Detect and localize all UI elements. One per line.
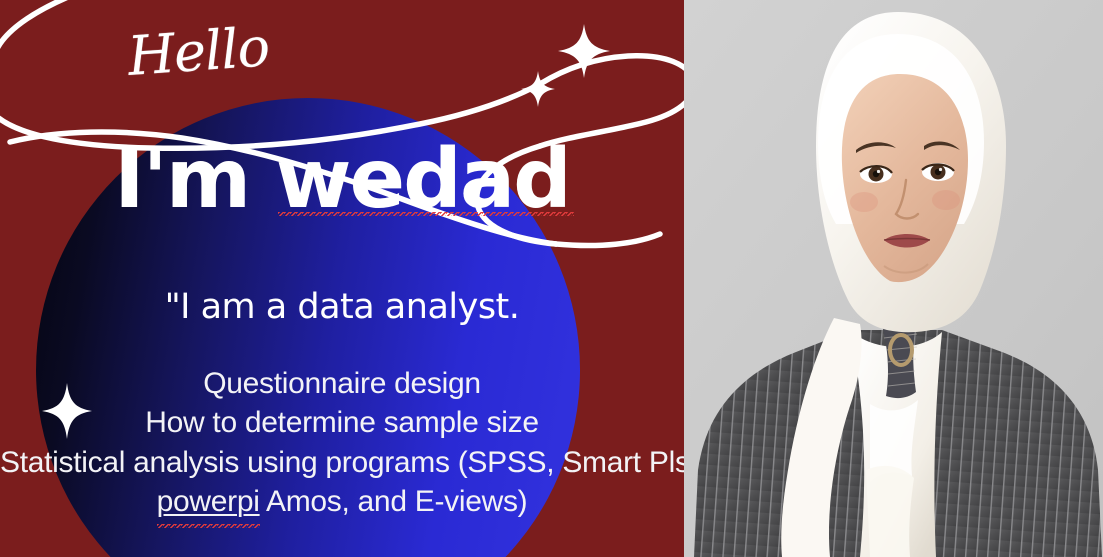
service-line-3: Statistical analysis using programs (SPS… (0, 443, 684, 482)
service-line-2: How to determine sample size (0, 403, 684, 442)
service-line-4-rest: Amos, and E-views) (260, 485, 528, 518)
sparkle-icon (558, 24, 610, 78)
left-intro-panel: Hello I'm wedad "I am a data analyst. Qu… (0, 0, 684, 557)
headline-prefix: I'm (114, 132, 276, 227)
service-line-1: Questionnaire design (0, 364, 684, 403)
sparkle-icon (521, 71, 555, 107)
portrait-image (684, 0, 1103, 557)
service-line-4: powerpi Amos, and E-views) (0, 482, 684, 521)
portrait-photo-panel (684, 0, 1103, 557)
page-title: I'm wedad (0, 140, 684, 220)
services-list: Questionnaire design How to determine sa… (0, 364, 684, 521)
tagline-text: "I am a data analyst. (0, 288, 684, 327)
profile-banner: Hello I'm wedad "I am a data analyst. Qu… (0, 0, 1103, 557)
greeting-script-text: Hello (126, 16, 329, 84)
headline-name: wedad (276, 140, 570, 220)
service-misspelled-word: powerpi (157, 482, 260, 521)
